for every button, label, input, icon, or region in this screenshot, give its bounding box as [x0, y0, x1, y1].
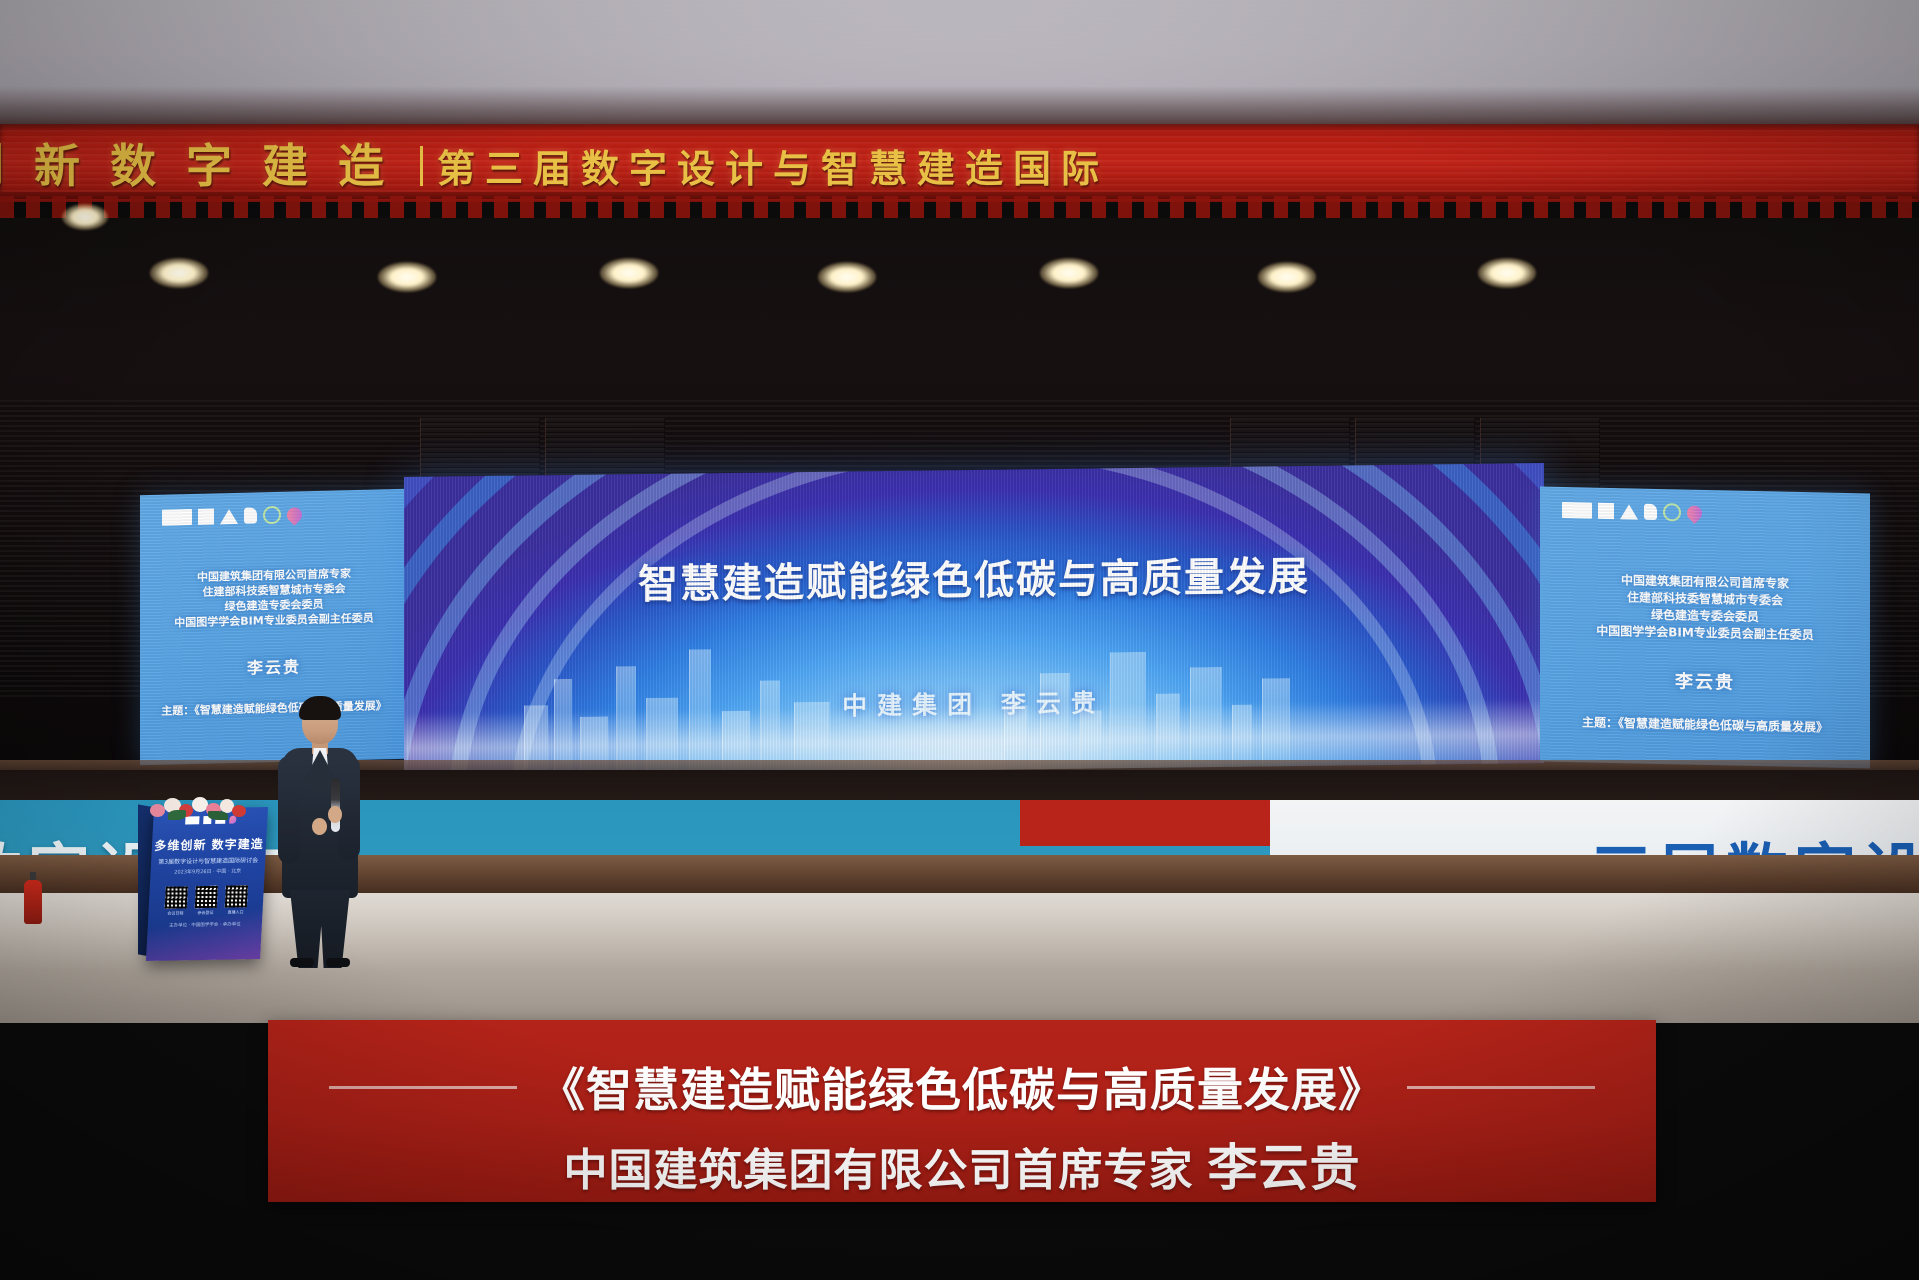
- square-logo-icon: [1598, 503, 1614, 519]
- lectern-date: 2023年9月26日 · 中国 · 北京: [150, 867, 264, 876]
- ceiling-light: [1258, 262, 1316, 292]
- lower-banner-red-strip: [1020, 800, 1280, 846]
- caption-rule-right: [1407, 1086, 1595, 1089]
- leaf: [168, 810, 186, 820]
- lectern-qr-row: 会议日程 参会登记 直播入口: [148, 885, 264, 917]
- left-screen-credentials: 中国建筑集团有限公司首席专家 住建部科技委智慧城市专委会 绿色建造专委会委员 中…: [140, 565, 408, 632]
- qr-caption: 参会登记: [194, 910, 216, 916]
- qr-caption: 会议日程: [164, 910, 186, 916]
- presenter-right-hand: [328, 806, 342, 823]
- caption-speaker-name: 李云贵: [1208, 1139, 1361, 1197]
- ceiling-light: [1478, 258, 1536, 288]
- top-red-banner: 维创新数字建造第三届数字设计与智慧建造国际: [0, 124, 1919, 202]
- left-led-screen: 中国建筑集团有限公司首席专家 住建部科技委智慧城市专委会 绿色建造专委会委员 中…: [140, 489, 408, 766]
- ring-logo-icon: [263, 506, 281, 524]
- top-banner-text: 维创新数字建造第三届数字设计与智慧建造国际: [0, 130, 1109, 196]
- qr-code-image: [225, 885, 248, 907]
- top-banner-tail: 第三届数字设计与智慧建造国际: [437, 147, 1109, 191]
- leaf: [208, 811, 228, 820]
- qr-code-1: 会议日程: [164, 886, 188, 916]
- right-screen-topic: 主题：《智慧建造赋能绿色低碳与高质量发展》: [1540, 713, 1870, 737]
- bar-logo-icon: [1562, 502, 1592, 519]
- ring-logo-icon: [1663, 503, 1681, 521]
- lectern-title: 多维创新 数字建造: [152, 835, 267, 854]
- presenter-left-hand: [312, 818, 327, 835]
- right-screen-speaker-name: 李云贵: [1540, 665, 1870, 698]
- ceiling-light: [1040, 258, 1098, 288]
- presenter-shoe: [290, 958, 314, 967]
- qr-code-image: [195, 886, 218, 908]
- ceiling-light: [150, 258, 208, 288]
- left-screen-logo-row: [140, 489, 408, 528]
- fire-extinguisher: [24, 880, 42, 924]
- presenter-legs: [290, 890, 350, 968]
- mountain-logo-icon: [1620, 504, 1638, 519]
- conference-stage-photo: 维创新数字建造第三届数字设计与智慧建造国际 中国建筑集团有限公司首席专家 住建部…: [0, 0, 1919, 1280]
- banner-divider-icon: [420, 146, 423, 186]
- left-screen-speaker-name: 李云贵: [140, 651, 408, 682]
- rounded-logo-icon: [1644, 504, 1657, 520]
- square-logo-icon: [198, 508, 214, 524]
- microphone-icon: [331, 778, 340, 832]
- qr-code-2: 参会登记: [194, 886, 218, 916]
- flower-arrangement: [146, 790, 264, 824]
- top-banner-main: 数字建造: [110, 139, 414, 193]
- presenter-shoe: [326, 958, 350, 967]
- presenter-left-arm: [278, 756, 300, 864]
- rounded-logo-icon: [244, 507, 257, 523]
- ceiling-light: [818, 262, 876, 292]
- droplet-logo-icon: [1684, 502, 1705, 523]
- left-screen-topic: 主题：《智慧建造赋能绿色低碳与高质量发展》: [140, 697, 408, 720]
- qr-caption: 直播入口: [224, 909, 246, 915]
- caption-affiliation: 中国建筑集团有限公司首席专家: [564, 1145, 1194, 1196]
- ceiling-light: [62, 204, 108, 230]
- flower: [232, 805, 246, 817]
- lectern: 多维创新 数字建造 第3届数字设计与智慧建造国际研讨会 2023年9月26日 ·…: [146, 807, 268, 961]
- right-screen-credentials: 中国建筑集团有限公司首席专家 住建部科技委智慧城市专委会 绿色建造专委会委员 中…: [1540, 571, 1870, 646]
- caption-title: 《智慧建造赋能绿色低碳与高质量发展》: [539, 1054, 1385, 1120]
- droplet-logo-icon: [284, 504, 305, 525]
- presenter-hair: [299, 696, 341, 720]
- right-screen-logo-row: [1540, 487, 1870, 526]
- right-led-screen: 中国建筑集团有限公司首席专家 住建部科技委智慧城市专委会 绿色建造专委会委员 中…: [1540, 487, 1870, 769]
- caption-title-row: 《智慧建造赋能绿色低碳与高质量发展》: [268, 1054, 1656, 1120]
- caption-rule-left: [329, 1086, 517, 1089]
- caption-speaker-row: 中国建筑集团有限公司首席专家李云贵: [268, 1128, 1656, 1200]
- lectern-subtitle: 第3届数字设计与智慧建造国际研讨会: [151, 855, 266, 866]
- lectern-footer: 主办单位 · 中国图学学会 · 承办单位: [148, 921, 262, 929]
- main-led-screen: 智慧建造赋能绿色低碳与高质量发展 中建集团 李云贵 2023年09月26日 中国…: [404, 463, 1544, 777]
- presenter-on-stage: [276, 700, 362, 968]
- top-banner-lead: 维创新: [0, 139, 110, 193]
- flower: [150, 804, 165, 817]
- qr-code-3: 直播入口: [224, 885, 248, 915]
- qr-code-image: [165, 886, 188, 908]
- ceiling-light: [378, 262, 436, 292]
- ceiling-light: [600, 258, 658, 288]
- presenter-right-arm: [338, 756, 360, 860]
- caption-card: 《智慧建造赋能绿色低碳与高质量发展》 中国建筑集团有限公司首席专家李云贵: [268, 1020, 1656, 1202]
- mountain-logo-icon: [220, 508, 238, 523]
- bar-logo-icon: [162, 509, 192, 526]
